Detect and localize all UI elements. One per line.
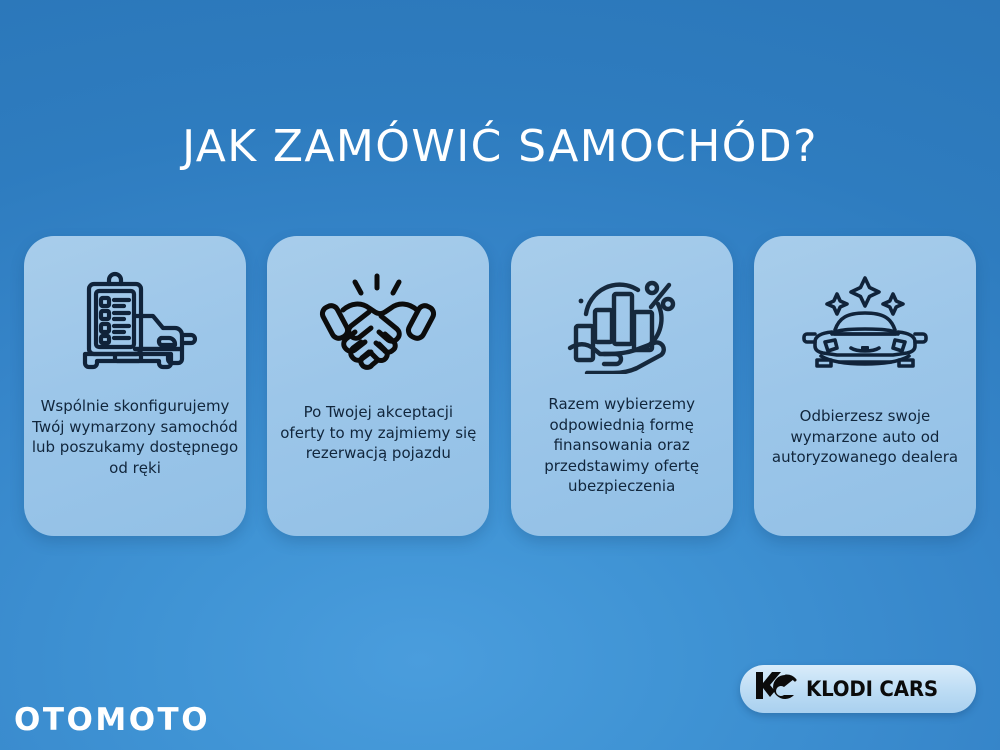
hand-bar-chart-percent-icon xyxy=(511,236,733,396)
step-card-2-text: Po Twojej akceptacji oferty to my zajmie… xyxy=(267,402,489,464)
sparkling-car-icon xyxy=(754,236,976,396)
klodi-kc-monogram-icon xyxy=(754,669,798,709)
klodi-cars-wordmark: KLODI CARS xyxy=(806,677,938,701)
page-title: JAK ZAMÓWIĆ SAMOCHÓD? xyxy=(0,123,1000,171)
handshake-icon xyxy=(267,236,489,396)
clipboard-car-icon xyxy=(24,236,246,396)
step-card-1-text: Wspólnie skonfigurujemy Twój wymarzony s… xyxy=(24,396,246,478)
step-card-3-text: Razem wybierzemy odpowiednią formę finan… xyxy=(511,394,733,497)
step-card-4-text: Odbierzesz swoje wymarzone auto od autor… xyxy=(754,406,976,468)
step-card-2[interactable]: Po Twojej akceptacji oferty to my zajmie… xyxy=(267,236,489,536)
step-card-3[interactable]: Razem wybierzemy odpowiednią formę finan… xyxy=(511,236,733,536)
klodi-cars-logo[interactable]: KLODI CARS xyxy=(740,665,976,713)
steps-row: Wspólnie skonfigurujemy Twój wymarzony s… xyxy=(24,236,976,536)
step-card-1[interactable]: Wspólnie skonfigurujemy Twój wymarzony s… xyxy=(24,236,246,536)
step-card-4[interactable]: Odbierzesz swoje wymarzone auto od autor… xyxy=(754,236,976,536)
otomoto-logo: OTOMOTO xyxy=(14,705,210,736)
infographic-canvas: JAK ZAMÓWIĆ SAMOCHÓD? xyxy=(0,0,1000,750)
